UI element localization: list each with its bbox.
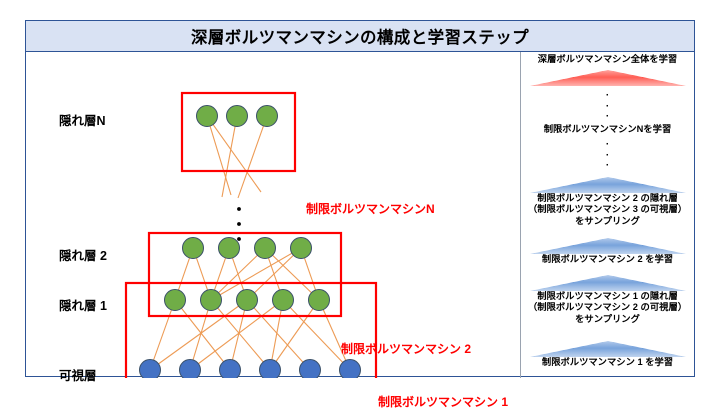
hidden-layer-n-node-1	[197, 106, 218, 127]
ellipsis-group	[237, 207, 241, 241]
visible-layer-node-1	[140, 360, 161, 379]
step-train-whole-dbm-arrow-icon	[528, 69, 688, 92]
visible-layer-node-5	[300, 360, 321, 379]
visible-layer-node-4	[260, 360, 281, 379]
layer-label-1: 隠れ層N	[59, 110, 106, 129]
edge	[319, 300, 350, 370]
network-graphic	[26, 52, 520, 378]
red-box-group	[126, 93, 376, 378]
edge	[265, 248, 319, 300]
rbm-annotation-3: 制限ボルツマンマシン 1	[378, 393, 508, 410]
edge	[222, 116, 237, 197]
hidden-layer-2-node-4	[291, 238, 312, 259]
step-train-whole-dbm: 深層ボルツマンマシン全体を学習	[521, 54, 694, 65]
rbm-n-box	[182, 93, 295, 171]
hidden-layer-1-node-1	[165, 290, 186, 311]
edge	[238, 116, 267, 198]
edge	[247, 300, 310, 370]
node-group	[140, 106, 361, 379]
edge	[150, 300, 175, 370]
step-sample-rbm2-hidden: 制限ボルツマンマシン 2 の隠れ層 （制限ボルツマンマシン 3 の可視層） をサ…	[521, 193, 694, 227]
slide-canvas: 深層ボルツマンマシンの構成と学習ステップ 隠れ層N隠れ層 2隠れ層 1可視層 制…	[0, 0, 720, 405]
hidden-layer-1-node-2	[201, 290, 222, 311]
diagram-ellipsis-dot-1	[237, 207, 241, 211]
edge	[207, 116, 261, 192]
dots-2: ···	[521, 140, 694, 172]
dbm-diagram: 隠れ層N隠れ層 2隠れ層 1可視層 制限ボルツマンマシンN制限ボルツマンマシン …	[26, 52, 520, 378]
hidden-layer-2-node-1	[183, 238, 204, 259]
training-steps-panel: 深層ボルツマンマシン全体を学習···制限ボルツマンマシンNを学習···制限ボルツ…	[521, 52, 694, 378]
visible-layer-node-3	[220, 360, 241, 379]
edge	[211, 300, 270, 370]
hidden-layer-1-node-3	[237, 290, 258, 311]
hidden-layer-n-node-2	[227, 106, 248, 127]
step-train-rbm-1: 制限ボルツマンマシン 1 を学習	[521, 357, 694, 368]
hidden-layer-1-node-4	[273, 290, 294, 311]
page-title: 深層ボルツマンマシンの構成と学習ステップ	[191, 24, 529, 48]
edge-group	[150, 116, 350, 370]
hidden-layer-2-node-2	[219, 238, 240, 259]
rbm-annotation-2: 制限ボルツマンマシン 2	[341, 340, 471, 357]
title-bar: 深層ボルツマンマシンの構成と学習ステップ	[26, 21, 694, 52]
step-train-rbm-n: 制限ボルツマンマシンNを学習	[521, 124, 694, 135]
hidden-layer-n-node-3	[257, 106, 278, 127]
layer-label-3: 隠れ層 1	[59, 295, 107, 314]
edge	[207, 116, 231, 195]
hidden-layer-2-node-3	[255, 238, 276, 259]
layer-label-2: 隠れ層 2	[59, 245, 107, 264]
slide-frame: 深層ボルツマンマシンの構成と学習ステップ 隠れ層N隠れ層 2隠れ層 1可視層 制…	[25, 20, 695, 377]
diagram-ellipsis-dot-3	[237, 237, 241, 241]
visible-layer-node-6	[340, 360, 361, 379]
rbm-annotation-1: 制限ボルツマンマシンN	[306, 200, 435, 217]
dots-1: ···	[521, 91, 694, 123]
layer-label-4: 可視層	[59, 365, 97, 384]
edge	[175, 300, 230, 370]
hidden-layer-1-node-5	[309, 290, 330, 311]
step-sample-rbm1-hidden: 制限ボルツマンマシン 1 の隠れ層 （制限ボルツマンマシン 2 の可視層） をサ…	[521, 291, 694, 325]
diagram-ellipsis-dot-2	[237, 222, 241, 226]
step-train-rbm-2: 制限ボルツマンマシン 2 を学習	[521, 254, 694, 265]
visible-layer-node-2	[180, 360, 201, 379]
